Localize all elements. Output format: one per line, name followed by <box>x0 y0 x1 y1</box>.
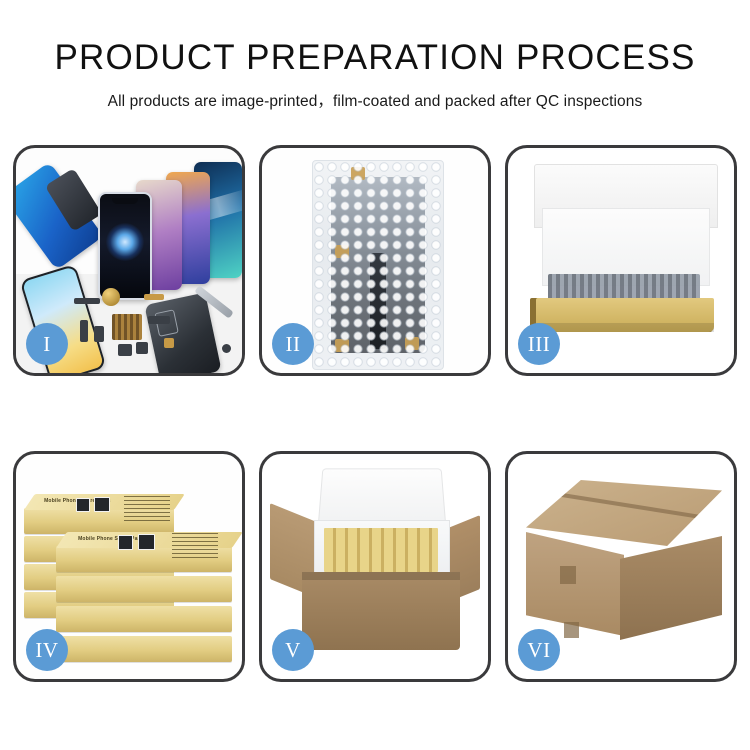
speaker-part <box>102 288 120 306</box>
panel-step-2[interactable]: II <box>259 145 491 376</box>
page-subtitle: All products are image-printed，film-coat… <box>0 89 750 111</box>
carton-left-face <box>526 532 624 636</box>
carton-tape-lower <box>564 622 579 638</box>
process-panel-grid: I II <box>13 145 737 682</box>
carton-top-face <box>526 480 722 546</box>
screw-part <box>164 338 174 348</box>
box-screen-thumb-b <box>94 497 110 512</box>
badge-step-2: II <box>272 323 314 365</box>
flex-cable-part <box>74 298 100 304</box>
retail-box-back-top: Mobile Phone Spare Parts <box>24 508 174 534</box>
camera-part <box>118 344 132 356</box>
retail-box-front-2 <box>56 576 232 602</box>
bubble-texture <box>313 161 443 369</box>
small-flex-part <box>80 320 88 342</box>
badge-step-5: V <box>272 629 314 671</box>
infographic-page: PRODUCT PREPARATION PROCESS All products… <box>0 0 750 750</box>
panel-step-1[interactable]: I <box>13 145 245 376</box>
panel-step-3[interactable]: III <box>505 145 737 376</box>
kraft-box-tray <box>536 298 714 332</box>
header: PRODUCT PREPARATION PROCESS All products… <box>0 0 750 111</box>
badge-step-1: I <box>26 323 68 365</box>
gold-connector-part <box>144 294 164 300</box>
box-spec-lines <box>124 495 170 521</box>
vibrator-part <box>136 342 148 354</box>
carton-tape-upper <box>560 566 576 584</box>
box-label-text-front: Mobile Phone Spare Parts <box>78 536 144 542</box>
retail-box-front-3 <box>56 606 232 632</box>
antenna-part <box>148 316 170 324</box>
box-screen-thumb-c <box>118 535 133 550</box>
badge-step-6: VI <box>518 629 560 671</box>
box-screen-thumb-a <box>76 498 90 512</box>
retail-box-front-top: Mobile Phone Spare Parts <box>56 546 232 572</box>
panel-step-5[interactable]: V <box>259 451 491 682</box>
phone-glass-panel <box>98 192 152 300</box>
chip-array-part <box>112 314 142 340</box>
box-screen-thumb-d <box>138 534 155 550</box>
yellow-boxes-inside <box>324 528 438 572</box>
badge-step-3: III <box>518 323 560 365</box>
carton-right-face <box>620 536 722 640</box>
panel-step-6[interactable]: VI <box>505 451 737 682</box>
retail-box-front-4 <box>56 636 232 662</box>
badge-step-4: IV <box>26 629 68 671</box>
phone-blue-tilted <box>16 162 103 271</box>
box-spec-lines-front <box>172 532 218 558</box>
bubble-wrap-bag <box>312 160 444 370</box>
panel-step-4[interactable]: Mobile Phone Spare Parts Mobile Phone Sp… <box>13 451 245 682</box>
page-title: PRODUCT PREPARATION PROCESS <box>0 40 750 77</box>
screw-part-2 <box>222 344 231 353</box>
master-carton-body <box>302 572 460 650</box>
button-part <box>94 326 104 342</box>
